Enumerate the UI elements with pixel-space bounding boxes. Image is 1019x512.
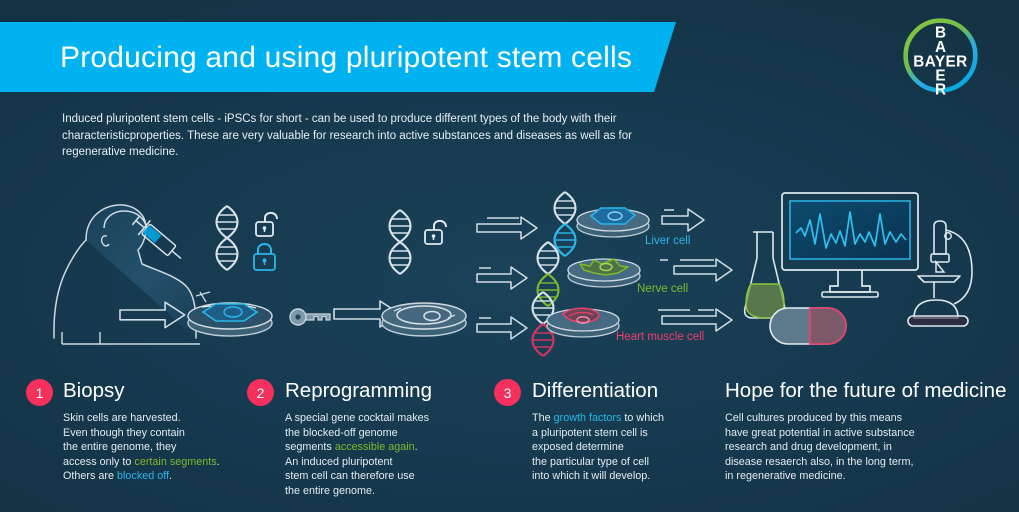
dna-helix-icon (217, 206, 238, 270)
flask-icon (745, 232, 786, 318)
step-title-4: Hope for the future of medicine (725, 379, 1006, 403)
petri-dish-icon (382, 303, 466, 336)
step-body-1: Skin cells are harvested.Even though the… (63, 411, 278, 484)
step-badge-2: 2 (247, 379, 274, 406)
person-silhouette-icon (54, 205, 200, 344)
page-title: Producing and using pluripotent stem cel… (60, 41, 632, 75)
heart-cell-dish-icon (547, 308, 619, 337)
step-body-2: A special gene cocktail makesthe blocked… (285, 411, 500, 499)
dna-helix-icon (390, 210, 411, 274)
key-icon (290, 309, 330, 325)
dna-helix-liver-icon (555, 192, 576, 256)
padlock-open-icon (256, 213, 277, 236)
logo-text-horizontal: BAYER (913, 54, 967, 71)
label-heart-muscle-cell: Heart muscle cell (616, 331, 704, 343)
pill-capsule-icon (770, 308, 846, 344)
arrow-to-lab-heart (658, 309, 732, 331)
step-title-3: Differentiation (532, 379, 658, 403)
intro-paragraph: Induced pluripotent stem cells - iPSCs f… (62, 111, 652, 161)
step-body-3: The growth factors to whicha pluripotent… (532, 411, 747, 484)
monitor-ecg-icon (782, 193, 918, 297)
branch-arrow-nerve (477, 267, 527, 289)
arrow-to-lab-liver (662, 209, 704, 231)
bayer-logo: B A E R BAYER (899, 14, 982, 97)
padlock-closed-icon (254, 244, 275, 270)
label-liver-cell: Liver cell (645, 235, 690, 247)
padlock-open-icon (425, 221, 446, 244)
branch-arrow-heart (477, 317, 527, 339)
nerve-cell-dish-icon (568, 259, 640, 287)
logo-letter-r-vertical: R (935, 82, 946, 97)
arrow-to-lab-nerve (660, 259, 732, 281)
illustration-diagram (0, 180, 1019, 365)
branch-arrow-liver (477, 217, 537, 239)
step-title-1: Biopsy (63, 379, 125, 403)
liver-cell-dish-icon (577, 208, 649, 237)
infographic-canvas: Producing and using pluripotent stem cel… (0, 0, 1019, 512)
step-title-2: Reprogramming (285, 379, 432, 403)
step-badge-1: 1 (26, 379, 53, 406)
label-nerve-cell: Nerve cell (637, 283, 688, 295)
petri-dish-icon (188, 303, 272, 336)
step-badge-3: 3 (494, 379, 521, 406)
step-body-4: Cell cultures produced by this meanshave… (725, 411, 955, 484)
